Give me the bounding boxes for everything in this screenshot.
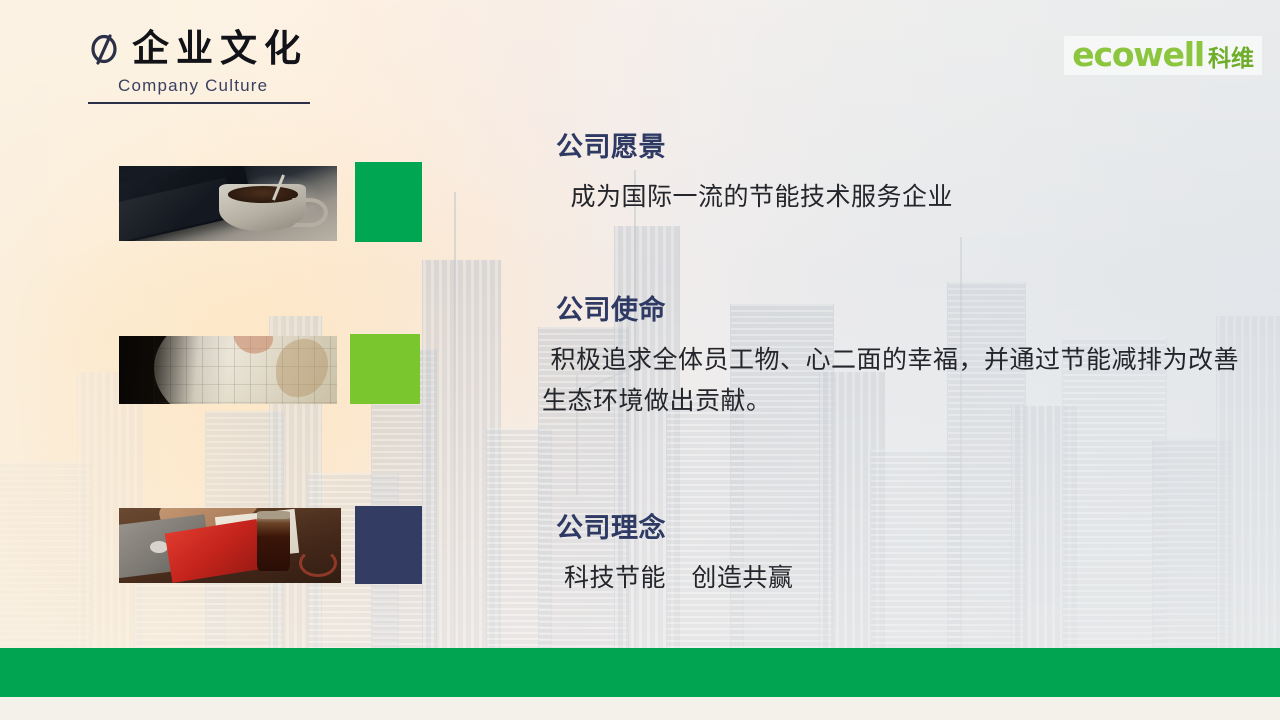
section-philosophy: 公司理念 科技节能 创造共赢 bbox=[556, 513, 793, 599]
section-vision: 公司愿景 成为国际一流的节能技术服务企业 bbox=[556, 132, 953, 218]
globe-map-photo bbox=[119, 336, 337, 404]
title-underline bbox=[88, 102, 310, 104]
section-mission-heading: 公司使命 bbox=[556, 295, 1242, 326]
navy-color-block bbox=[355, 506, 422, 584]
footer-green-bar bbox=[0, 648, 1280, 697]
section-philosophy-heading: 公司理念 bbox=[556, 513, 793, 544]
section-mission: 公司使命 积极追求全体员工物、心二面的幸福，并通过节能减排为改善生态环境做出贡献… bbox=[556, 295, 1242, 421]
section-vision-heading: 公司愿景 bbox=[556, 132, 953, 163]
slashed-ellipse-icon bbox=[88, 32, 120, 66]
logo-wordmark-cn: 科维 bbox=[1208, 48, 1254, 71]
footer-light-strip bbox=[0, 697, 1280, 720]
page-title: 企业文化 Company Culture bbox=[88, 30, 310, 104]
page-title-cn: 企业文化 bbox=[132, 30, 308, 67]
section-vision-body: 成为国际一流的节能技术服务企业 bbox=[562, 177, 953, 218]
ecowell-logo: ecowell 科维 bbox=[1064, 36, 1262, 75]
section-mission-body: 积极追求全体员工物、心二面的幸福，并通过节能减排为改善生态环境做出贡献。 bbox=[542, 340, 1242, 421]
page-title-en: Company Culture bbox=[118, 76, 310, 96]
slide-company-culture: 企业文化 Company Culture ecowell 科维 bbox=[0, 0, 1280, 720]
title-row: 企业文化 bbox=[88, 30, 310, 67]
notebook-and-coffee-photo bbox=[119, 166, 337, 241]
section-philosophy-body: 科技节能 创造共赢 bbox=[564, 558, 793, 599]
lime-color-block bbox=[350, 334, 420, 404]
laptop-notebook-desk-photo bbox=[119, 508, 341, 583]
logo-wordmark: ecowell bbox=[1072, 38, 1204, 71]
green-color-block bbox=[355, 162, 422, 242]
